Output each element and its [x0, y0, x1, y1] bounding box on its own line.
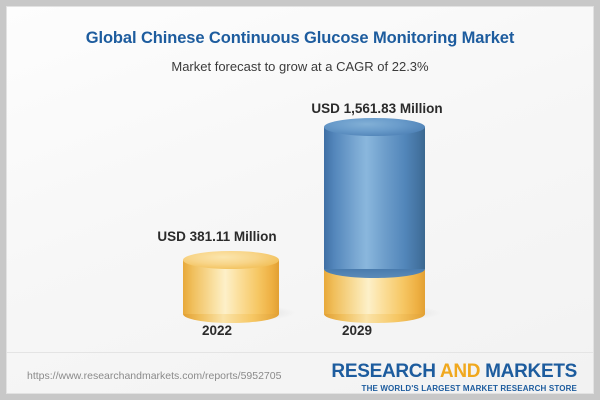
logo-word-research: RESEARCH: [331, 361, 440, 382]
value-label-2022: USD 381.11 Million: [137, 229, 297, 244]
logo-wordmark: RESEARCH AND MARKETS: [331, 362, 577, 382]
chart-card: Global Chinese Continuous Glucose Monito…: [6, 6, 594, 394]
bar-segment-2029-growth: [324, 127, 425, 269]
cylinder-body: [324, 127, 425, 269]
plot-area: USD 1,561.83 Million USD 381.11 Million: [7, 7, 594, 347]
category-label-2029: 2029: [297, 323, 417, 338]
category-label-2022: 2022: [157, 323, 277, 338]
logo-word-markets: MARKETS: [480, 361, 577, 382]
brand-logo[interactable]: RESEARCH AND MARKETS THE WORLD'S LARGEST…: [331, 362, 577, 393]
report-url[interactable]: https://www.researchandmarkets.com/repor…: [27, 370, 281, 382]
logo-tagline: THE WORLD'S LARGEST MARKET RESEARCH STOR…: [331, 384, 577, 393]
bar-2022[interactable]: [183, 251, 279, 314]
bar-segment-2022-base: [183, 260, 279, 314]
cylinder-top-cap: [324, 118, 425, 136]
logo-word-and: AND: [440, 361, 480, 382]
value-label-2029: USD 1,561.83 Million: [277, 101, 477, 116]
footer-divider: [7, 352, 593, 353]
cylinder-top-cap: [183, 251, 279, 269]
bar-2029[interactable]: [324, 118, 425, 314]
